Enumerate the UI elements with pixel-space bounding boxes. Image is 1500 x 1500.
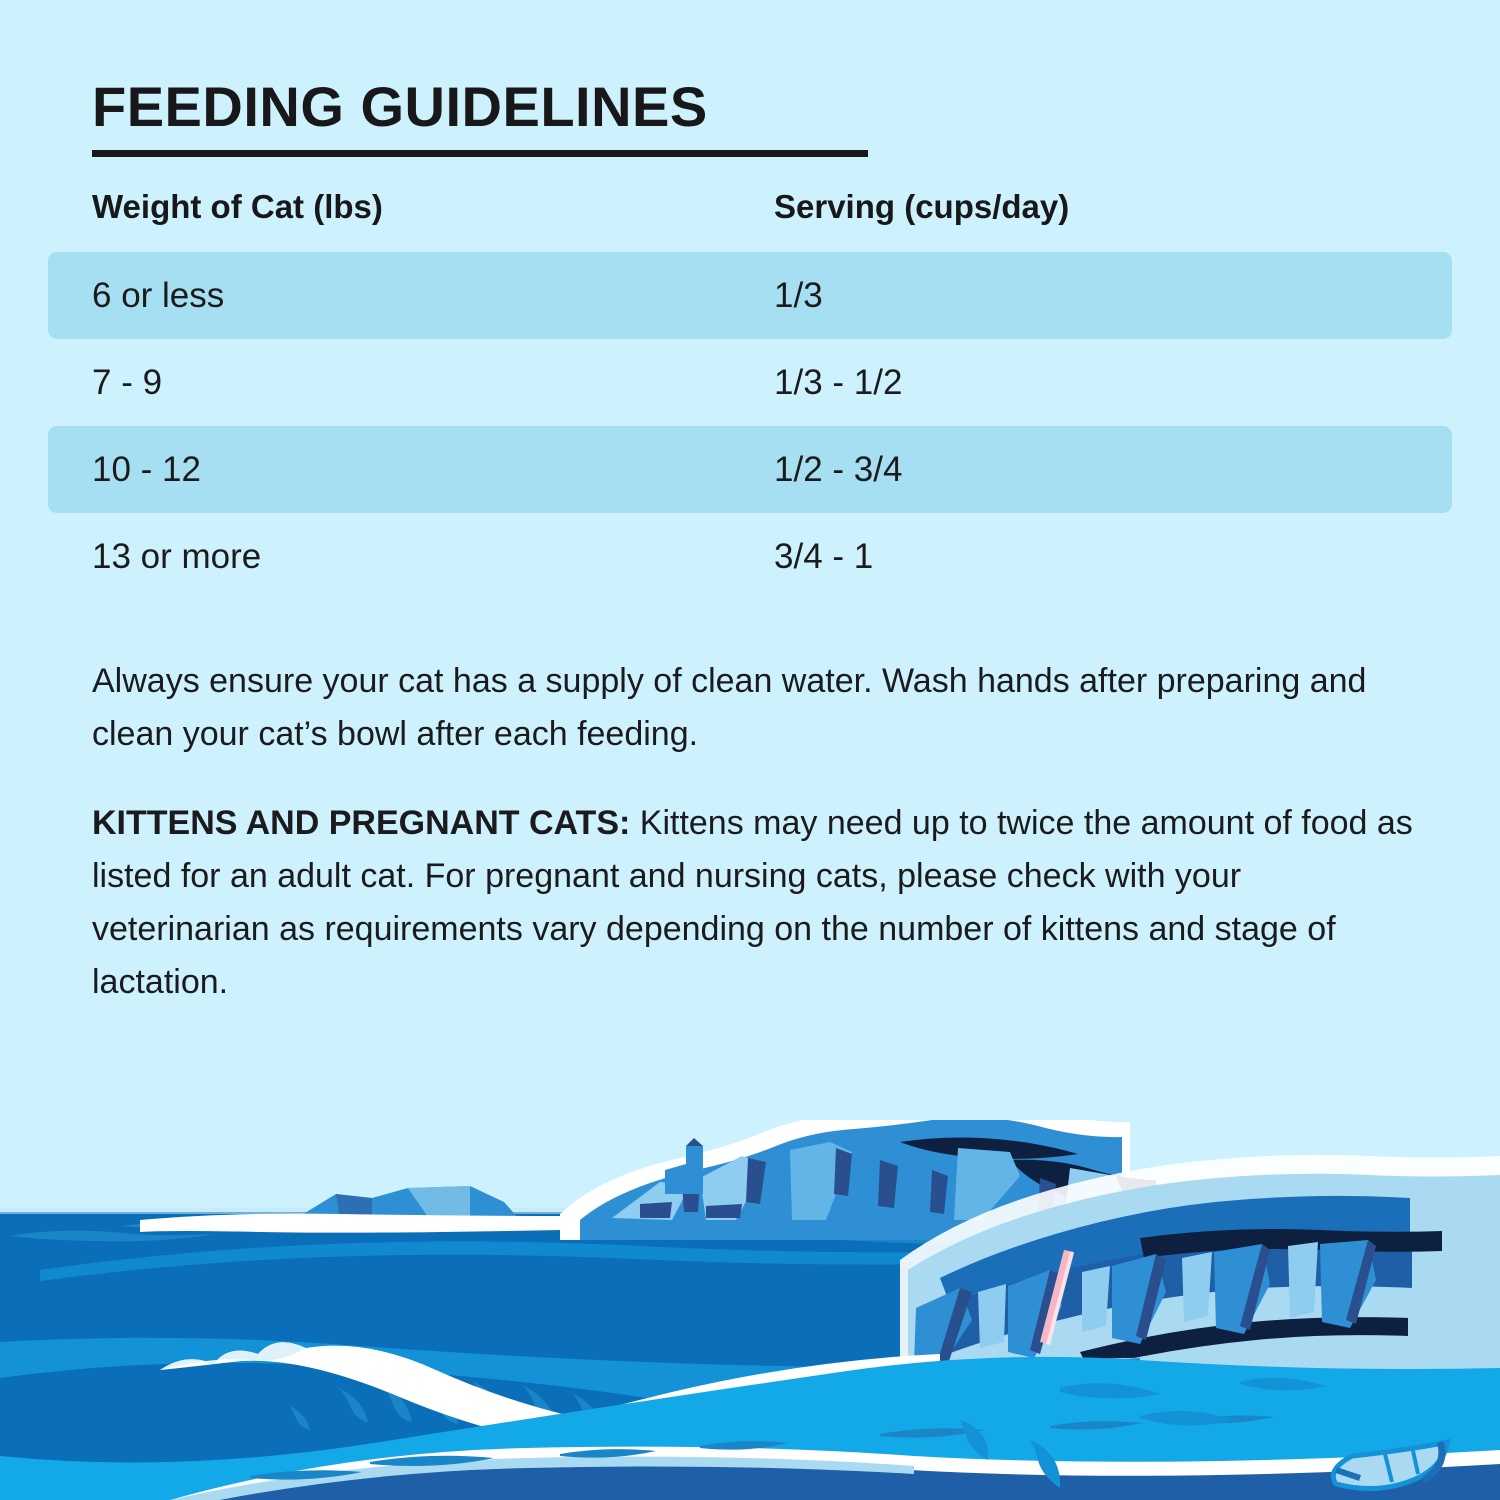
kittens-note-label: KITTENS AND PREGNANT CATS: [92, 804, 630, 842]
cell-weight: 7 - 9 [48, 365, 734, 400]
table-header-row: Weight of Cat (lbs) Serving (cups/day) [48, 190, 1452, 252]
table-row: 10 - 12 1/2 - 3/4 [48, 426, 1452, 513]
cell-serving: 1/3 [734, 278, 1374, 313]
lighthouse-tower [686, 1146, 703, 1194]
cell-serving: 1/2 - 3/4 [734, 452, 1374, 487]
cell-weight: 13 or more [48, 539, 734, 574]
kittens-note-paragraph: KITTENS AND PREGNANT CATS: Kittens may n… [92, 797, 1422, 1009]
cell-weight: 6 or less [48, 278, 734, 313]
table-row: 7 - 9 1/3 - 1/2 [48, 339, 1452, 426]
title-block: FEEDING GUIDELINES [92, 78, 1412, 157]
feeding-table: Weight of Cat (lbs) Serving (cups/day) 6… [48, 190, 1452, 600]
seascape-svg [0, 1120, 1500, 1500]
column-header-weight: Weight of Cat (lbs) [48, 190, 734, 223]
water-note-paragraph: Always ensure your cat has a supply of c… [92, 655, 1422, 761]
cell-serving: 3/4 - 1 [734, 539, 1374, 574]
left-rock-surf [140, 1214, 560, 1233]
coastal-seascape-illustration [0, 1120, 1500, 1500]
notes-block: Always ensure your cat has a supply of c… [92, 655, 1422, 1009]
cell-weight: 10 - 12 [48, 452, 734, 487]
cell-serving: 1/3 - 1/2 [734, 365, 1374, 400]
feeding-guidelines-panel: FEEDING GUIDELINES Weight of Cat (lbs) S… [0, 0, 1500, 1500]
table-row: 13 or more 3/4 - 1 [48, 513, 1452, 600]
title-underline-rule [92, 150, 868, 157]
column-header-serving: Serving (cups/day) [734, 190, 1374, 223]
page-title: FEEDING GUIDELINES [92, 78, 1412, 137]
table-row: 6 or less 1/3 [48, 252, 1452, 339]
